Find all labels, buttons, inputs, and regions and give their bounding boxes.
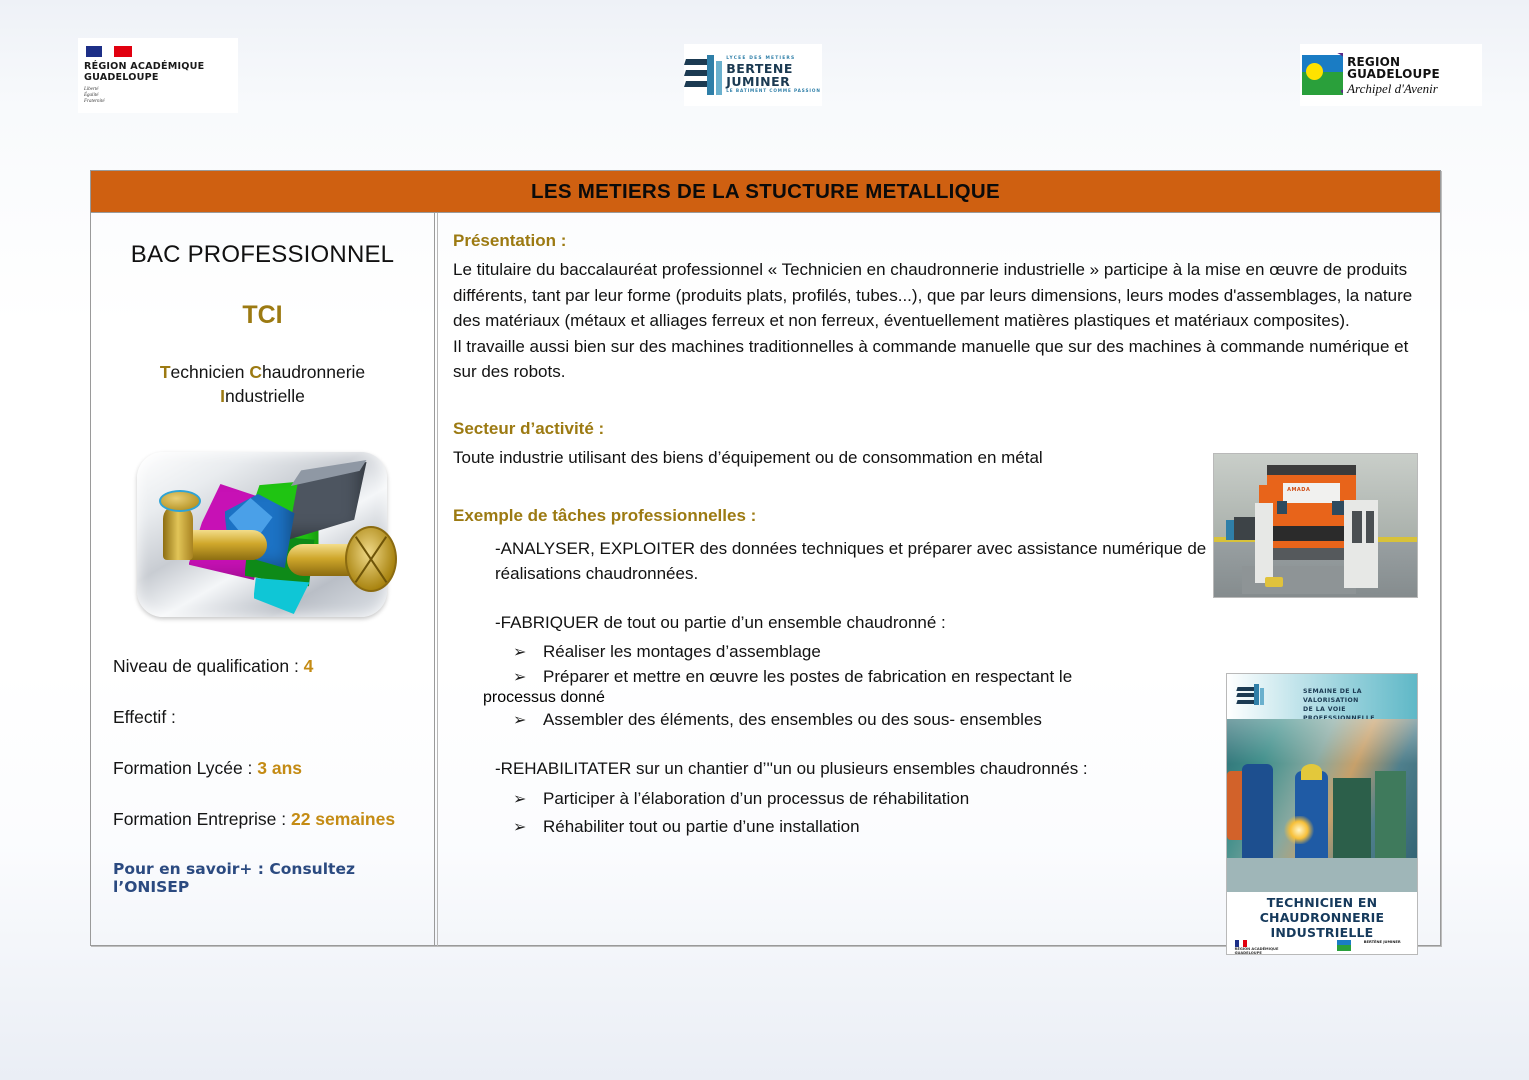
poster-lycee-logo xyxy=(1237,684,1294,709)
presentation-heading: Présentation : xyxy=(453,231,1418,251)
elbow-pipe-shape xyxy=(163,504,193,560)
building-icon xyxy=(685,55,723,95)
fact-entreprise-value: 22 semaines xyxy=(291,809,395,829)
facts-list: Niveau de qualification : 4 Effectif : F… xyxy=(113,656,422,830)
full-name-part3: ndustrielle xyxy=(225,386,305,406)
sector-heading: Secteur d’activité : xyxy=(453,419,1418,439)
fact-niveau-label: Niveau de qualification : xyxy=(113,656,304,676)
presentation-paragraph: Le titulaire du baccalauréat professionn… xyxy=(453,257,1418,385)
full-name-initial-c: C xyxy=(249,362,262,382)
lycee-logo-name2: JUMINER xyxy=(726,76,821,88)
full-name-part1: echnicien xyxy=(171,362,250,382)
french-flag-icon xyxy=(86,46,138,57)
machine-brand-label: AMADA xyxy=(1287,487,1310,493)
logo-lycee-bertene-juminer: LYCEE DES METIERS BERTENE JUMINER LE BAT… xyxy=(684,44,822,106)
fact-formation-entreprise: Formation Entreprise : 22 semaines xyxy=(113,809,422,830)
logo-header-row: RÉGION ACADÉMIQUE GUADELOUPE Liberté Éga… xyxy=(0,0,1529,145)
poster-workshop-photo xyxy=(1227,719,1417,893)
poster-region-logo-icon xyxy=(1337,940,1351,951)
arrow-bullet-icon: ➢ xyxy=(513,707,543,732)
diploma-level-title: BAC PROFESSIONNEL xyxy=(103,241,422,269)
poster-title-line1: TECHNICIEN EN CHAUDRONNERIE xyxy=(1233,895,1412,925)
professional-week-poster: SEMAINE DE LA VALORISATION DE LA VOIE PR… xyxy=(1226,673,1418,955)
presentation-paragraph-part2: Il travaille aussi bien sur des machines… xyxy=(453,337,1408,382)
arrow-bullet-icon: ➢ xyxy=(513,639,543,664)
press-brake-machine-photo: AMADA xyxy=(1213,453,1418,598)
fact-effectif: Effectif : xyxy=(113,707,422,728)
fact-niveau: Niveau de qualification : 4 xyxy=(113,656,422,677)
logo-region-guadeloupe: REGION GUADELOUPE Archipel d'Avenir xyxy=(1300,44,1482,106)
island-sun-icon xyxy=(1300,53,1343,97)
poster-footer-right: BERTÈNE JUMINER xyxy=(1364,940,1401,944)
sub-item-fabriquer-1-text: Réaliser les montages d’assemblage xyxy=(543,639,1418,664)
diploma-acronym: TCI xyxy=(103,301,422,330)
pipe-flange-shape xyxy=(159,490,201,512)
full-name-part2: haudronnerie xyxy=(262,362,365,382)
arrow-bullet-icon: ➢ xyxy=(513,785,543,813)
cad-assembly-illustration xyxy=(129,438,397,628)
region-logo-name: REGION GUADELOUPE xyxy=(1347,56,1482,80)
task-fabriquer: -FABRIQUER de tout ou partie d’un ensemb… xyxy=(495,610,1418,635)
lycee-logo-name1: BERTENE xyxy=(726,63,821,75)
poster-title: TECHNICIEN EN CHAUDRONNERIE INDUSTRIELLE xyxy=(1233,895,1412,940)
diploma-full-name: Technicien Chaudronnerie Industrielle xyxy=(103,360,422,408)
poster-header-text: SEMAINE DE LA VALORISATION DE LA VOIE PR… xyxy=(1303,687,1413,723)
sub-item-fabriquer-1: ➢ Réaliser les montages d’assemblage xyxy=(513,639,1418,664)
fact-effectif-label: Effectif : xyxy=(113,707,176,727)
lycee-logo-tagline: LE BATIMENT COMME PASSION xyxy=(726,89,821,93)
region-logo-tagline: Archipel d'Avenir xyxy=(1347,82,1482,95)
fact-niveau-value: 4 xyxy=(304,656,314,676)
onisep-link[interactable]: Pour en savoir+ : Consultez l’ONISEP xyxy=(113,860,422,896)
fact-lycee-value: 3 ans xyxy=(257,758,302,778)
arrow-bullet-icon: ➢ xyxy=(513,664,543,689)
academie-logo-line1: RÉGION ACADÉMIQUE xyxy=(84,61,232,73)
arrow-bullet-icon: ➢ xyxy=(513,813,543,841)
full-name-initial-t: T xyxy=(160,362,171,382)
poster-footer: RÉGION ACADÉMIQUE GUADELOUPE BERTÈNE JUM… xyxy=(1227,939,1417,954)
poster-footer-left: RÉGION ACADÉMIQUE GUADELOUPE xyxy=(1235,947,1279,955)
fact-lycee-label: Formation Lycée : xyxy=(113,758,257,778)
logo-region-academique: RÉGION ACADÉMIQUE GUADELOUPE Liberté Éga… xyxy=(78,38,238,113)
left-panel: BAC PROFESSIONNEL TCI Technicien Chaudro… xyxy=(91,213,435,946)
academie-logo-motto: Liberté Égalité Fraternité xyxy=(84,87,232,106)
card-body: BAC PROFESSIONNEL TCI Technicien Chaudro… xyxy=(91,213,1440,946)
pipe-end-wheel-shape xyxy=(345,526,397,592)
presentation-paragraph-part1: Le titulaire du baccalauréat professionn… xyxy=(453,260,1412,330)
poster-header-line1: SEMAINE DE LA VALORISATION xyxy=(1303,687,1413,705)
fact-formation-lycee: Formation Lycée : 3 ans xyxy=(113,758,422,779)
page-title: LES METIERS DE LA STUCTURE METALLIQUE xyxy=(531,180,1000,204)
fact-entreprise-label: Formation Entreprise : xyxy=(113,809,291,829)
page-title-banner: LES METIERS DE LA STUCTURE METALLIQUE xyxy=(91,171,1440,213)
right-panel: Présentation : Le titulaire du baccalaur… xyxy=(435,213,1440,946)
academie-logo-line2: GUADELOUPE xyxy=(84,72,232,84)
fiche-card: LES METIERS DE LA STUCTURE METALLIQUE BA… xyxy=(90,170,1441,946)
